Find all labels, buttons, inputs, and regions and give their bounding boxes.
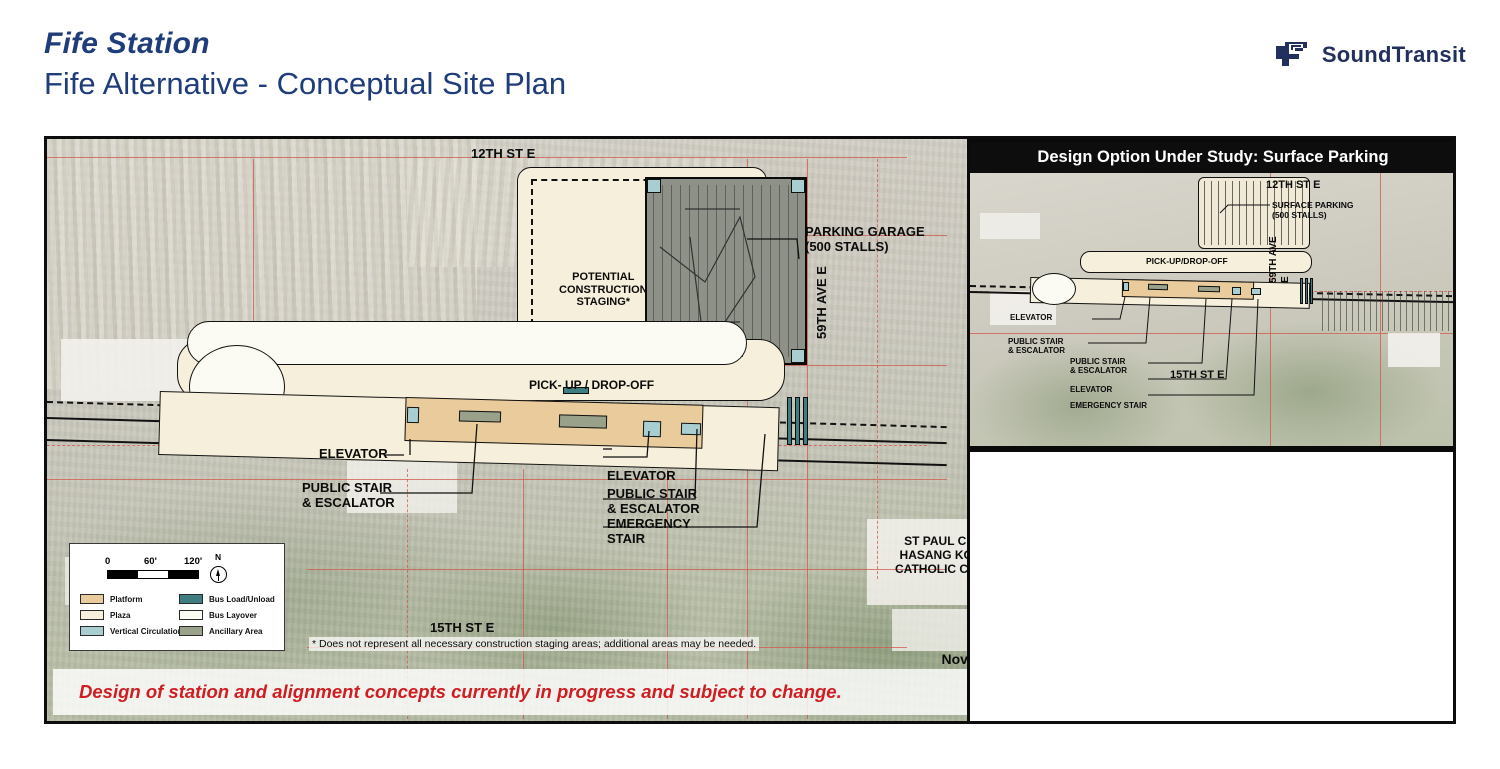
inset-vertical-circulation (1123, 282, 1129, 291)
platform-vertical-circulation (407, 407, 419, 423)
scale-label-zero: 0 (105, 556, 110, 567)
inset-label-12th-st-e: 12TH ST E (1266, 179, 1320, 192)
legend-label-platform: Platform (110, 595, 142, 604)
page-title: Fife Station (44, 28, 566, 60)
map-frame: 12TH ST E 15TH ST E 59TH AVE E POTENTIAL… (44, 136, 1456, 724)
legend-label-bus-layover: Bus Layover (209, 611, 257, 620)
parcel-line (47, 479, 947, 480)
legend-item-bus-layover: Bus Layover (179, 610, 278, 620)
inset-surface-parking-panel: Design Option Under Study: Surface Parki… (967, 139, 1456, 449)
label-elevator-right: ELEVATOR (607, 469, 676, 484)
inset-bus-load-unload-bar (1310, 278, 1313, 304)
north-letter: N (215, 552, 221, 562)
label-12th-st-e: 12TH ST E (471, 147, 535, 162)
inset-bus-load-unload-bar (1300, 278, 1303, 304)
label-elevator-left: ELEVATOR (319, 447, 388, 462)
parcel-line (877, 159, 878, 579)
legend-item-platform: Platform (80, 594, 179, 604)
bus-load-unload-bar (803, 397, 808, 445)
inset-east-lot-hatching (1322, 291, 1452, 331)
label-public-stair-escalator-right: PUBLIC STAIR & ESCALATOR (607, 487, 700, 517)
scale-label-max: 120' (184, 556, 202, 567)
legend-items: Platform Bus Load/Unload Plaza Bus Layov… (80, 594, 278, 642)
inset-map-body: 12TH ST E 15TH ST E 59TH AVE E SURFACE P… (970, 173, 1456, 446)
scale-bar (107, 570, 199, 579)
inset-label-surface-parking: SURFACE PARKING (500 STALLS) (1272, 201, 1354, 221)
parcel-line (307, 569, 947, 570)
legend-item-bus-load-unload: Bus Load/Unload (179, 594, 278, 604)
scale-label-mid: 60' (144, 556, 157, 567)
inset-title: Design Option Under Study: Surface Parki… (1037, 148, 1388, 167)
platform-vertical-circulation (643, 421, 661, 437)
label-59th-ave-e: 59TH AVE E (815, 266, 830, 339)
legend-swatch-platform (80, 594, 104, 604)
inset-label-public-stair-escalator-left: PUBLIC STAIR & ESCALATOR (1008, 337, 1065, 355)
legend-swatch-bus-load-unload (179, 594, 203, 604)
north-arrow-icon (210, 566, 227, 583)
inset-label-59th-ave-e: 59TH AVE E (1268, 236, 1291, 283)
inset-bus-load-unload-bar (1305, 278, 1308, 304)
legend-swatch-plaza (80, 610, 104, 620)
label-pick-up-drop-off: PICK- UP / DROP-OFF (529, 379, 654, 393)
disclaimer-banner: Design of station and alignment concepts… (53, 669, 1053, 715)
platform-vertical-circulation (681, 423, 701, 436)
legend-label-bus-load-unload: Bus Load/Unload (209, 595, 275, 604)
label-parking-garage: PARKING GARAGE (500 STALLS) (805, 225, 925, 255)
inset-label-elevator-left: ELEVATOR (1010, 313, 1052, 322)
inset-label-public-stair-escalator-right: PUBLIC STAIR & ESCALATOR (1070, 357, 1127, 375)
label-public-stair-escalator-left: PUBLIC STAIR & ESCALATOR (302, 481, 395, 511)
platform-ancillary-box (459, 410, 501, 422)
legend-item-plaza: Plaza (80, 610, 179, 620)
legend-swatch-bus-layover (179, 610, 203, 620)
label-15th-st-e: 15TH ST E (430, 621, 494, 636)
inset-label-emergency-stair: EMERGENCY STAIR (1070, 401, 1147, 410)
inset-vertical-circulation (1232, 287, 1241, 295)
inset-building-footprint (980, 213, 1040, 239)
legend-swatch-ancillary-area (179, 626, 203, 636)
sound-transit-wordmark: SoundTransit (1322, 42, 1466, 68)
legend-label-plaza: Plaza (110, 611, 130, 620)
inset-ancillary-box (1148, 284, 1168, 290)
page-subtitle: Fife Alternative - Conceptual Site Plan (44, 66, 566, 102)
inset-vertical-circulation (1251, 288, 1261, 295)
inset-ancillary-box (1198, 286, 1220, 292)
site-plan-page: Fife Station Fife Alternative - Conceptu… (0, 0, 1500, 769)
inset-label-15th-st-e: 15TH ST E (1170, 369, 1224, 382)
platform-ancillary-box (559, 414, 607, 428)
inset-building-footprint (1388, 333, 1440, 367)
inset-label-elevator-right: ELEVATOR (1070, 385, 1112, 394)
sound-transit-mark-icon (1273, 40, 1313, 70)
legend-swatch-vertical-circulation (80, 626, 104, 636)
label-potential-construction-staging: POTENTIAL CONSTRUCTION STAGING* (559, 271, 648, 309)
legend-item-ancillary-area: Ancillary Area (179, 626, 278, 636)
building-footprint (892, 609, 974, 651)
label-emergency-stair: EMERGENCY STAIR (607, 517, 691, 547)
legend-label-vertical-circulation: Vertical Circulation (110, 627, 182, 636)
map-legend: 0 60' 120' N Platform Bus Load/Unload Pl… (69, 543, 285, 651)
construction-staging-footnote: * Does not represent all necessary const… (309, 637, 759, 651)
inset-bus-layover-turnaround (1032, 273, 1076, 305)
wordmark-text: SoundTransit (1322, 42, 1466, 67)
bus-load-unload-bar (787, 397, 792, 445)
page-header: Fife Station Fife Alternative - Conceptu… (44, 28, 566, 101)
inset-header: Design Option Under Study: Surface Parki… (970, 142, 1456, 173)
sound-transit-logo: SoundTransit (1273, 40, 1466, 70)
inset-label-pick-up-drop-off: PICK-UP/DROP-OFF (1146, 257, 1228, 267)
legend-label-ancillary-area: Ancillary Area (209, 627, 263, 636)
inset-parcel-line (970, 333, 1456, 334)
disclaimer-text: Design of station and alignment concepts… (53, 681, 842, 703)
bus-load-unload-bar (795, 397, 800, 445)
legend-item-vertical-circulation: Vertical Circulation (80, 626, 179, 636)
blank-content-panel (967, 449, 1456, 724)
